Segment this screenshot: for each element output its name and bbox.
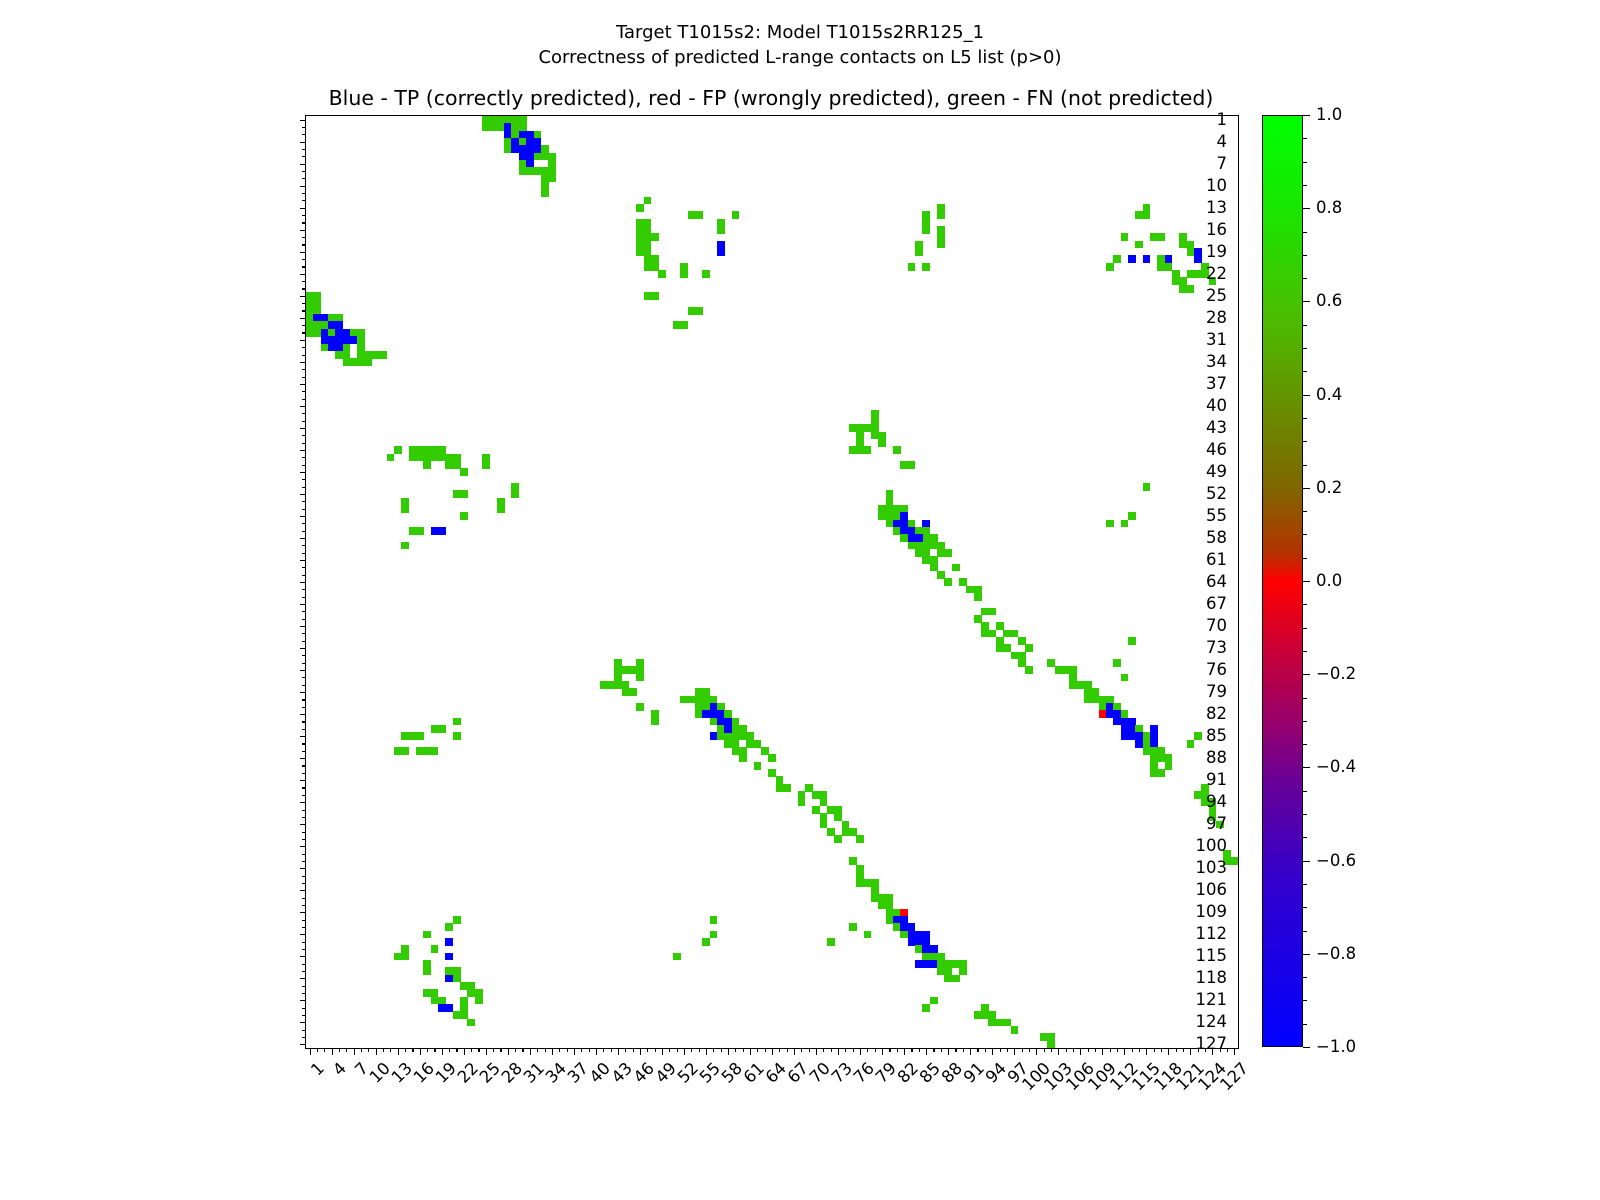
contact-cell-fn <box>695 211 703 219</box>
x-axis-tick <box>721 1048 722 1052</box>
y-axis-tick <box>302 839 306 840</box>
y-axis-tick <box>302 501 306 502</box>
x-axis-tick <box>816 1048 817 1055</box>
colorbar-tick <box>1303 674 1310 675</box>
contact-cell-fn <box>1187 740 1195 748</box>
y-axis-label: 22 <box>1206 266 1227 283</box>
colorbar-minor-tick <box>1303 1000 1307 1001</box>
x-axis-tick <box>398 1048 399 1055</box>
contact-cell-fn <box>959 967 967 975</box>
x-axis-tick <box>537 1048 538 1052</box>
y-axis-tick <box>302 575 306 576</box>
contact-cell-fn <box>849 923 857 931</box>
contact-cell-tp <box>438 527 446 535</box>
x-axis-tick <box>633 1048 634 1052</box>
y-axis-tick <box>302 663 306 664</box>
x-axis-tick <box>823 1048 824 1052</box>
y-axis-tick <box>302 949 306 950</box>
y-axis-tick <box>302 531 306 532</box>
x-axis-tick <box>684 1048 685 1055</box>
contact-cell-fn <box>431 945 439 953</box>
y-axis-tick <box>300 758 307 759</box>
y-axis-tick <box>300 890 307 891</box>
y-axis-tick <box>300 626 307 627</box>
y-axis-tick <box>302 597 306 598</box>
contact-cell-fn <box>453 461 461 469</box>
y-axis-tick <box>302 509 306 510</box>
contact-cell-fn <box>710 931 718 939</box>
x-axis-tick <box>845 1048 846 1052</box>
y-axis-label: 85 <box>1206 728 1227 745</box>
contact-cell-fn <box>702 938 710 946</box>
y-axis-label: 76 <box>1206 662 1227 679</box>
x-axis-tick <box>904 1048 905 1055</box>
y-axis-tick <box>302 377 306 378</box>
x-axis-tick <box>339 1048 340 1052</box>
x-axis-tick <box>735 1048 736 1052</box>
y-axis-tick <box>302 685 306 686</box>
y-axis-tick <box>302 171 306 172</box>
colorbar-minor-tick <box>1303 907 1307 908</box>
contact-cell-fn <box>922 1004 930 1012</box>
y-axis-tick <box>302 281 306 282</box>
contact-cell-fn <box>959 960 967 968</box>
x-axis-tick <box>757 1048 758 1052</box>
y-axis-label: 25 <box>1206 288 1227 305</box>
y-axis-tick <box>302 435 306 436</box>
contact-cell-fn <box>834 835 842 843</box>
y-axis-tick <box>300 582 307 583</box>
x-axis-tick <box>589 1048 590 1052</box>
contact-cell-fn <box>710 916 718 924</box>
contact-cell-fn <box>636 703 644 711</box>
x-axis-tick <box>977 1048 978 1052</box>
x-axis-tick <box>801 1048 802 1052</box>
x-axis-tick <box>493 1048 494 1052</box>
y-axis-tick <box>302 347 306 348</box>
x-axis-tick <box>530 1048 531 1055</box>
contact-cell-fn <box>460 490 468 498</box>
y-axis-tick <box>302 832 306 833</box>
contact-cell-fn <box>497 505 505 513</box>
y-axis-tick <box>300 780 307 781</box>
y-axis-tick <box>302 971 306 972</box>
y-axis-tick <box>302 237 306 238</box>
colorbar-minor-tick <box>1303 138 1307 139</box>
contact-cell-fn <box>680 270 688 278</box>
x-axis-tick <box>875 1048 876 1052</box>
contact-cell-fn <box>783 784 791 792</box>
colorbar-minor-tick <box>1303 651 1307 652</box>
x-axis-tick <box>765 1048 766 1052</box>
x-axis-tick <box>449 1048 450 1052</box>
x-axis-tick <box>640 1048 641 1055</box>
colorbar-minor-tick <box>1303 534 1307 535</box>
x-axis-tick <box>662 1048 663 1055</box>
x-axis-tick <box>486 1048 487 1055</box>
y-axis-label: 103 <box>1196 860 1228 877</box>
x-axis-tick <box>405 1048 406 1052</box>
x-axis-tick <box>1000 1048 1001 1052</box>
x-axis-tick <box>596 1048 597 1055</box>
contact-cell-fn <box>908 263 916 271</box>
x-axis-tick <box>1132 1048 1133 1052</box>
x-axis-tick <box>853 1048 854 1052</box>
contact-cell-fn <box>1040 1033 1048 1041</box>
x-axis-tick <box>1227 1048 1228 1052</box>
y-axis-label: 124 <box>1196 1014 1228 1031</box>
colorbar-minor-tick <box>1303 255 1307 256</box>
x-axis-tick <box>442 1048 443 1055</box>
x-axis-tick <box>1110 1048 1111 1052</box>
y-axis-label: 10 <box>1206 177 1227 194</box>
y-axis-tick <box>302 156 306 157</box>
y-axis-tick <box>302 567 306 568</box>
y-axis-tick <box>302 413 306 414</box>
contact-cell-fn <box>988 608 996 616</box>
contact-cell-fn <box>827 938 835 946</box>
y-axis-tick <box>302 421 306 422</box>
contact-cell-fn <box>629 688 637 696</box>
contact-cell-fn <box>401 542 409 550</box>
contact-cell-fn <box>922 263 930 271</box>
y-axis-tick <box>302 633 306 634</box>
y-axis-tick <box>302 942 306 943</box>
y-axis-tick <box>302 773 306 774</box>
y-axis-tick <box>300 912 307 913</box>
contact-cell-fn <box>1025 644 1033 652</box>
x-axis-tick <box>860 1048 861 1055</box>
contact-cell-fn <box>394 446 402 454</box>
colorbar-tick <box>1303 954 1310 955</box>
y-axis-label: 52 <box>1206 486 1227 503</box>
colorbar-tick <box>1303 395 1310 396</box>
contact-cell-fn <box>702 270 710 278</box>
contact-cell-fn <box>401 505 409 513</box>
y-axis-tick <box>300 846 307 847</box>
colorbar-minor-tick <box>1303 628 1307 629</box>
contact-cell-fn <box>798 798 806 806</box>
y-axis-label: 19 <box>1206 244 1227 261</box>
x-axis-tick <box>500 1048 501 1052</box>
x-axis-tick <box>1088 1048 1089 1052</box>
y-axis-tick <box>302 883 306 884</box>
x-axis-tick <box>1051 1048 1052 1052</box>
y-axis-label: 64 <box>1206 574 1227 591</box>
contact-cell-fn <box>622 688 630 696</box>
colorbar-tick-label: −0.2 <box>1316 666 1356 683</box>
y-axis-label: 37 <box>1206 376 1227 393</box>
y-axis-label: 13 <box>1206 199 1227 216</box>
contact-cell-fn <box>651 718 659 726</box>
x-axis-tick <box>317 1048 318 1052</box>
y-axis-label: 49 <box>1206 464 1227 481</box>
colorbar-tick <box>1303 767 1310 768</box>
contact-cell-fn <box>401 747 409 755</box>
y-axis-tick <box>302 134 306 135</box>
x-axis-tick <box>647 1048 648 1052</box>
x-axis-tick <box>787 1048 788 1052</box>
contact-map-matrix <box>306 116 1238 1048</box>
colorbar-tick-label: 1.0 <box>1316 107 1342 124</box>
y-axis-tick <box>300 560 307 561</box>
y-axis-tick <box>302 222 306 223</box>
x-axis-tick <box>478 1048 479 1052</box>
y-axis-label: 127 <box>1196 1036 1228 1053</box>
contact-cell-tp <box>1128 255 1136 263</box>
y-axis-tick <box>302 523 306 524</box>
y-axis-tick <box>300 406 307 407</box>
y-axis-tick <box>300 978 307 979</box>
y-axis-tick <box>300 1000 307 1001</box>
colorbar-tick-label: −1.0 <box>1316 1039 1356 1056</box>
y-axis-tick <box>302 178 306 179</box>
x-axis-tick <box>471 1048 472 1052</box>
y-axis-label: 55 <box>1206 508 1227 525</box>
x-axis-tick <box>1007 1048 1008 1052</box>
contact-cell-fn <box>849 424 857 432</box>
y-axis-tick <box>302 215 306 216</box>
x-axis-tick <box>361 1048 362 1052</box>
x-axis-tick <box>324 1048 325 1052</box>
y-axis-tick <box>302 1037 306 1038</box>
y-axis-tick <box>302 641 306 642</box>
y-axis-label: 94 <box>1206 794 1227 811</box>
colorbar-minor-tick <box>1303 441 1307 442</box>
y-axis-label: 112 <box>1196 926 1228 943</box>
x-axis-tick <box>1058 1048 1059 1055</box>
x-axis-tick <box>889 1048 890 1052</box>
contact-cell-fn <box>379 351 387 359</box>
x-axis-tick <box>1022 1048 1023 1052</box>
contact-cell-fn <box>636 674 644 682</box>
y-axis-tick <box>302 369 306 370</box>
y-axis-tick <box>300 1044 307 1045</box>
y-axis-tick <box>302 986 306 987</box>
y-axis-label: 1 <box>1217 111 1228 128</box>
x-axis-tick <box>1168 1048 1169 1055</box>
y-axis-tick <box>302 332 306 333</box>
x-axis-tick <box>1102 1048 1103 1055</box>
contact-cell-fn <box>467 1019 475 1027</box>
y-axis-tick <box>302 303 306 304</box>
contact-cell-fn <box>1106 520 1114 528</box>
x-axis-tick <box>897 1048 898 1052</box>
contact-cell-tp <box>445 953 453 961</box>
y-axis-tick <box>300 120 307 121</box>
x-axis-tick <box>1014 1048 1015 1055</box>
y-axis-tick <box>300 802 307 803</box>
x-axis-tick <box>743 1048 744 1052</box>
colorbar-minor-tick <box>1303 744 1307 745</box>
contact-cell-fn <box>644 197 652 205</box>
x-axis-tick <box>794 1048 795 1055</box>
y-axis-tick <box>300 956 307 957</box>
y-axis-tick <box>302 611 306 612</box>
y-axis-tick <box>300 472 307 473</box>
x-axis-tick <box>1036 1048 1037 1055</box>
x-axis-tick <box>1117 1048 1118 1052</box>
colorbar-tick-label: −0.4 <box>1316 759 1356 776</box>
contact-cell-fn <box>768 754 776 762</box>
contact-cell-fn <box>636 659 644 667</box>
contact-cell-fn <box>416 732 424 740</box>
y-axis-tick <box>302 619 306 620</box>
y-axis-label: 97 <box>1206 816 1227 833</box>
contact-cell-fn <box>754 762 762 770</box>
x-axis-tick <box>691 1048 692 1052</box>
y-axis-tick <box>302 200 306 201</box>
contact-cell-fn <box>1025 666 1033 674</box>
colorbar-tick <box>1303 488 1310 489</box>
y-axis-tick <box>302 1015 306 1016</box>
colorbar-gradient <box>1262 115 1303 1047</box>
contact-cell-fn <box>431 747 439 755</box>
contact-cell-fn <box>482 461 490 469</box>
y-axis-tick <box>302 391 306 392</box>
x-axis-tick <box>1139 1048 1140 1052</box>
y-axis-tick <box>302 1030 306 1031</box>
contact-cell-fn <box>944 549 952 557</box>
contact-cell-fn <box>922 226 930 234</box>
contact-cell-fn <box>1231 857 1238 865</box>
colorbar-minor-tick <box>1303 814 1307 815</box>
contact-cell-fn <box>387 454 395 462</box>
colorbar-tick <box>1303 208 1310 209</box>
x-axis-tick <box>427 1048 428 1052</box>
y-axis-label: 16 <box>1206 222 1227 239</box>
y-axis-tick <box>302 479 306 480</box>
y-axis-label: 121 <box>1196 992 1228 1009</box>
y-axis-tick <box>300 142 307 143</box>
x-axis-tick <box>911 1048 912 1052</box>
y-axis-label: 118 <box>1196 970 1228 987</box>
y-axis-tick <box>302 310 306 311</box>
x-axis-tick <box>1095 1048 1096 1052</box>
contact-cell-fn <box>453 916 461 924</box>
x-axis-tick <box>1124 1048 1125 1055</box>
x-axis-tick <box>838 1048 839 1055</box>
x-axis-tick <box>750 1048 751 1055</box>
y-axis-tick <box>300 252 307 253</box>
contact-cell-fn <box>1157 769 1165 777</box>
contact-cell-fn <box>365 358 373 366</box>
colorbar-minor-tick <box>1303 371 1307 372</box>
contact-cell-fn <box>908 461 916 469</box>
y-axis-tick <box>302 553 306 554</box>
y-axis-label: 40 <box>1206 398 1227 415</box>
y-axis-tick <box>302 589 306 590</box>
x-axis-tick <box>669 1048 670 1052</box>
contact-cell-fn <box>974 593 982 601</box>
contact-cell-fn <box>614 659 622 667</box>
contact-cell-fn <box>1121 674 1129 682</box>
contact-cell-fn <box>475 997 483 1005</box>
contact-cell-fn <box>1135 241 1143 249</box>
y-axis-tick <box>302 810 306 811</box>
x-axis-tick <box>420 1048 421 1055</box>
colorbar-minor-tick <box>1303 977 1307 978</box>
x-axis-tick <box>831 1048 832 1052</box>
colorbar-tick-label: 0.4 <box>1316 386 1342 403</box>
contact-cell-fn <box>1187 285 1195 293</box>
x-axis-tick <box>574 1048 575 1055</box>
y-axis-tick <box>302 721 306 722</box>
contact-cell-fn <box>937 211 945 219</box>
colorbar-tick-label: 0.2 <box>1316 480 1342 497</box>
y-axis-tick <box>300 494 307 495</box>
contact-cell-fn <box>893 446 901 454</box>
y-axis-tick <box>300 934 307 935</box>
contact-cell-fn <box>878 432 886 440</box>
contact-cell-fn <box>717 226 725 234</box>
colorbar-tick <box>1303 301 1310 302</box>
contact-cell-fn <box>673 953 681 961</box>
x-axis-label: 4 <box>330 1060 349 1079</box>
contact-cell-fn <box>1113 255 1121 263</box>
y-axis-label: 31 <box>1206 332 1227 349</box>
x-axis-tick <box>1073 1048 1074 1052</box>
x-axis-tick <box>1176 1048 1177 1052</box>
contact-cell-fn <box>952 564 960 572</box>
contact-cell-fn <box>974 1011 982 1019</box>
y-axis-tick <box>302 244 306 245</box>
contact-cell-fn <box>915 248 923 256</box>
contact-cell-fn <box>658 270 666 278</box>
contact-cell-fn <box>401 953 409 961</box>
y-axis-tick <box>302 751 306 752</box>
colorbar-tick-label: −0.8 <box>1316 946 1356 963</box>
x-axis-tick <box>1234 1048 1235 1055</box>
x-axis-tick <box>955 1048 956 1052</box>
colorbar-tick-label: 0.8 <box>1316 200 1342 217</box>
x-axis-tick <box>310 1048 311 1055</box>
y-axis-label: 67 <box>1206 596 1227 613</box>
x-axis-tick <box>552 1048 553 1055</box>
x-axis-tick <box>963 1048 964 1052</box>
y-axis-label: 115 <box>1196 948 1228 965</box>
colorbar-tick <box>1303 115 1310 116</box>
y-axis-tick <box>300 164 307 165</box>
x-axis-label: 1 <box>308 1060 327 1079</box>
contact-cell-fn <box>541 189 549 197</box>
x-axis-tick <box>464 1048 465 1055</box>
x-axis-tick <box>941 1048 942 1052</box>
contact-cell-fn <box>1011 1026 1019 1034</box>
contact-cell-fn <box>423 931 431 939</box>
y-axis-tick <box>302 964 306 965</box>
y-axis-label: 88 <box>1206 750 1227 767</box>
colorbar-minor-tick <box>1303 837 1307 838</box>
y-axis-label: 46 <box>1206 442 1227 459</box>
contact-cell-tp <box>445 938 453 946</box>
colorbar-tick <box>1303 861 1310 862</box>
y-axis-tick <box>302 127 306 128</box>
colorbar-minor-tick <box>1303 791 1307 792</box>
contact-cell-fn <box>651 710 659 718</box>
x-axis-tick <box>1146 1048 1147 1055</box>
contact-cell-fn <box>944 578 952 586</box>
colorbar-minor-tick <box>1303 558 1307 559</box>
colorbar-minor-tick <box>1303 465 1307 466</box>
x-axis-tick <box>559 1048 560 1052</box>
contact-cell-fn <box>864 446 872 454</box>
x-axis-tick <box>332 1048 333 1055</box>
contact-cell-fn <box>856 835 864 843</box>
y-axis-tick <box>302 876 306 877</box>
y-axis-tick <box>300 648 307 649</box>
contact-cell-fn <box>739 754 747 762</box>
